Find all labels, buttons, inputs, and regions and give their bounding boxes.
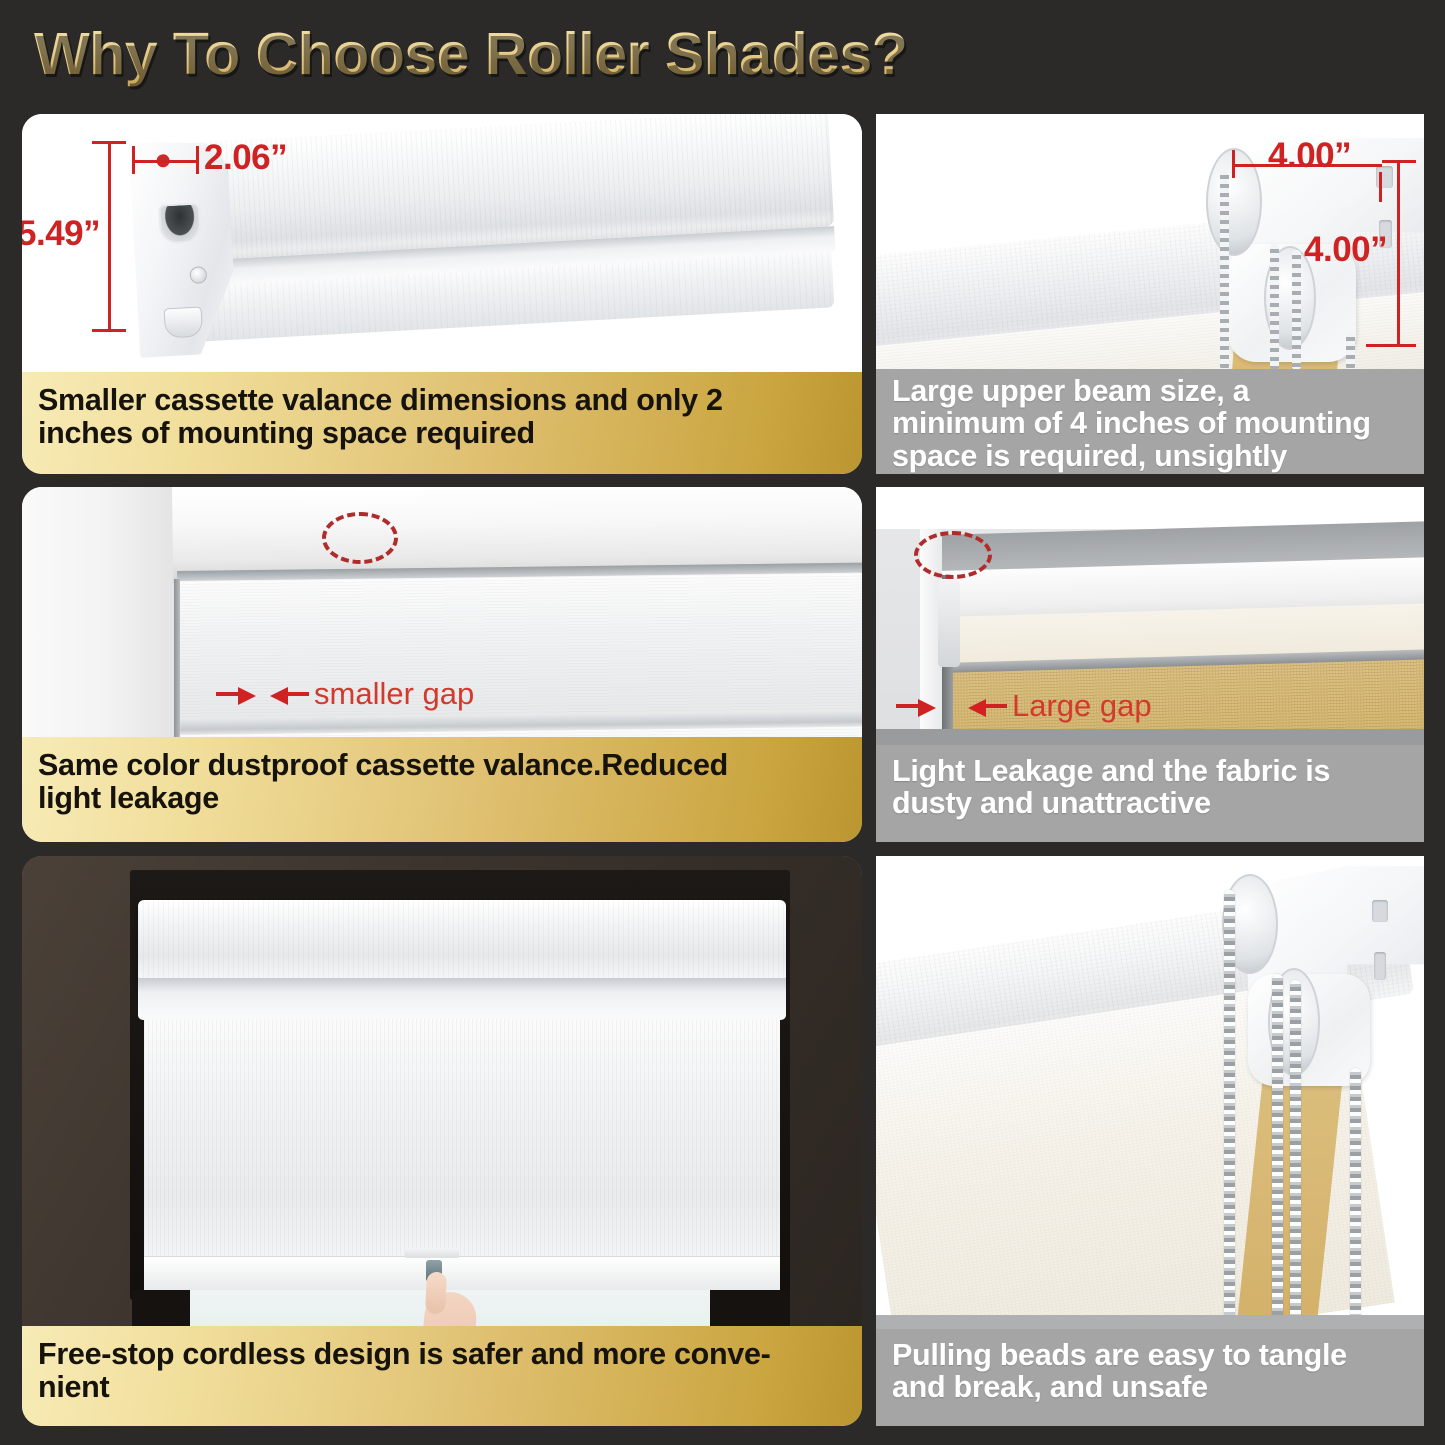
panel-bottom-right: Pulling beads are easy to tangle and bre… xyxy=(876,856,1424,1426)
gap-arrow-right xyxy=(968,699,986,717)
panel-bottom-left-photo xyxy=(22,856,862,1326)
panel-mid-left-caption: Same color dustproof cassette valance.Re… xyxy=(22,737,862,842)
cassette-valance xyxy=(138,900,786,980)
bead-chain-left xyxy=(1220,170,1229,369)
panel-top-right: 4.00” 4.00” Large upper beam size, a min… xyxy=(876,114,1424,474)
caption-line-2: minimum of 4 inches of mounting xyxy=(892,407,1371,439)
window-jamb-right xyxy=(710,1290,790,1326)
panel-mid-left-photo: smaller gap xyxy=(22,487,862,737)
window-frame-left xyxy=(22,487,174,737)
beam-width-tick-right xyxy=(1379,172,1382,202)
gap-arrow-right-stem xyxy=(985,704,1007,708)
bead-chain-1[interactable] xyxy=(1224,890,1235,1320)
panel-top-left-photo: 5.49” 2.06” xyxy=(22,114,862,372)
beam-width-dimension-label: 4.00” xyxy=(1268,136,1351,176)
caption-line-1: Free-stop cordless design is safer and m… xyxy=(38,1338,771,1371)
caption-line-3: space is required, unsightly xyxy=(892,440,1371,472)
panel-mid-right-photo: Large gap xyxy=(876,487,1424,745)
panel-bottom-left: Free-stop cordless design is safer and m… xyxy=(22,856,862,1426)
caption-line-1: Same color dustproof cassette valance.Re… xyxy=(38,749,728,782)
bead-chain-3[interactable] xyxy=(1290,980,1301,1322)
bead-chain-2[interactable] xyxy=(1272,974,1283,1322)
floor-strip xyxy=(876,729,1424,745)
gap-highlight-ellipse xyxy=(914,531,992,579)
exposed-bracket xyxy=(938,579,960,667)
width-dimension-label: 2.06” xyxy=(204,138,287,178)
caption-line-1: Light Leakage and the fabric is xyxy=(892,755,1330,787)
floor-strip xyxy=(876,1315,1424,1329)
panel-top-left: 5.49” 2.06” Smaller cassette valance dim… xyxy=(22,114,862,474)
shade-hem-bar xyxy=(144,1256,780,1290)
valance-screw-upper xyxy=(189,266,207,284)
beam-width-tick-left xyxy=(1232,150,1235,178)
caption-line-1: Large upper beam size, a xyxy=(892,375,1371,407)
panel-top-left-caption: Smaller cassette valance dimensions and … xyxy=(22,372,862,474)
bracket-slot-upper xyxy=(1372,900,1388,922)
caption-line-2: nient xyxy=(38,1371,771,1404)
gap-arrow-right xyxy=(270,687,288,705)
caption-line-1: Smaller cassette valance dimensions and … xyxy=(38,384,723,417)
infographic-page: Why To Choose Roller Shades? 5.49” xyxy=(0,0,1445,1445)
cassette-valance-lip xyxy=(138,978,786,1020)
caption-line-1: Pulling beads are easy to tangle xyxy=(892,1339,1347,1371)
caption-line-2: and break, and unsafe xyxy=(892,1371,1347,1403)
caption-line-2: light leakage xyxy=(38,782,728,815)
bead-chain-far-right xyxy=(1346,332,1355,369)
height-dimension-label: 5.49” xyxy=(22,214,100,254)
height-dimension-tick-bottom xyxy=(92,329,126,332)
panel-mid-left: smaller gap Same color dustproof cassett… xyxy=(22,487,862,842)
gap-arrow-left xyxy=(918,699,936,717)
gap-callout-label: Large gap xyxy=(1012,688,1152,724)
window-jamb-left xyxy=(132,1290,190,1326)
width-dimension-line xyxy=(132,160,198,163)
panel-bottom-right-photo xyxy=(876,856,1424,1329)
caption-line-2: inches of mounting space required xyxy=(38,417,723,450)
beam-height-dimension-label: 4.00” xyxy=(1304,230,1387,270)
page-title: Why To Choose Roller Shades? xyxy=(34,20,907,88)
gap-arrow-left-stem xyxy=(896,704,920,708)
height-dimension-line xyxy=(108,141,111,331)
valance-mechanism-hole xyxy=(158,202,202,244)
beam-height-tick-bottom xyxy=(1366,344,1416,347)
gap-callout-label: smaller gap xyxy=(314,676,474,712)
gap-arrow-left-stem xyxy=(216,692,240,696)
bead-chain-right xyxy=(1292,250,1301,369)
caption-line-2: dusty and unattractive xyxy=(892,787,1330,819)
gap-arrow-right-stem xyxy=(287,692,309,696)
hand-finger xyxy=(425,1272,447,1315)
panel-bottom-left-caption: Free-stop cordless design is safer and m… xyxy=(22,1326,862,1426)
panel-bottom-right-caption: Pulling beads are easy to tangle and bre… xyxy=(876,1329,1424,1426)
width-dimension-tick-right xyxy=(196,146,199,174)
valance-screw-lower xyxy=(164,306,204,338)
shade-brand-tag xyxy=(405,1248,459,1258)
bead-chain-mid xyxy=(1270,244,1279,369)
panel-top-right-caption: Large upper beam size, a minimum of 4 in… xyxy=(876,369,1424,474)
bracket-slot-lower xyxy=(1374,952,1386,980)
shade-side-gap xyxy=(174,579,180,737)
height-dimension-tick-top xyxy=(92,141,126,144)
panel-mid-right-caption: Light Leakage and the fabric is dusty an… xyxy=(876,745,1424,842)
page-title-bar: Why To Choose Roller Shades? xyxy=(0,0,1445,108)
gap-highlight-ellipse xyxy=(322,512,398,564)
bead-chain-4[interactable] xyxy=(1350,1068,1361,1322)
beam-height-dimension-line xyxy=(1397,160,1400,346)
gap-arrow-left xyxy=(238,687,256,705)
width-dimension-tick-left xyxy=(132,146,135,174)
panel-top-right-photo: 4.00” 4.00” xyxy=(876,114,1424,369)
panel-mid-right: Large gap Light Leakage and the fabric i… xyxy=(876,487,1424,842)
roller-shade-fabric xyxy=(144,1018,780,1268)
beam-height-tick-top xyxy=(1382,160,1416,163)
